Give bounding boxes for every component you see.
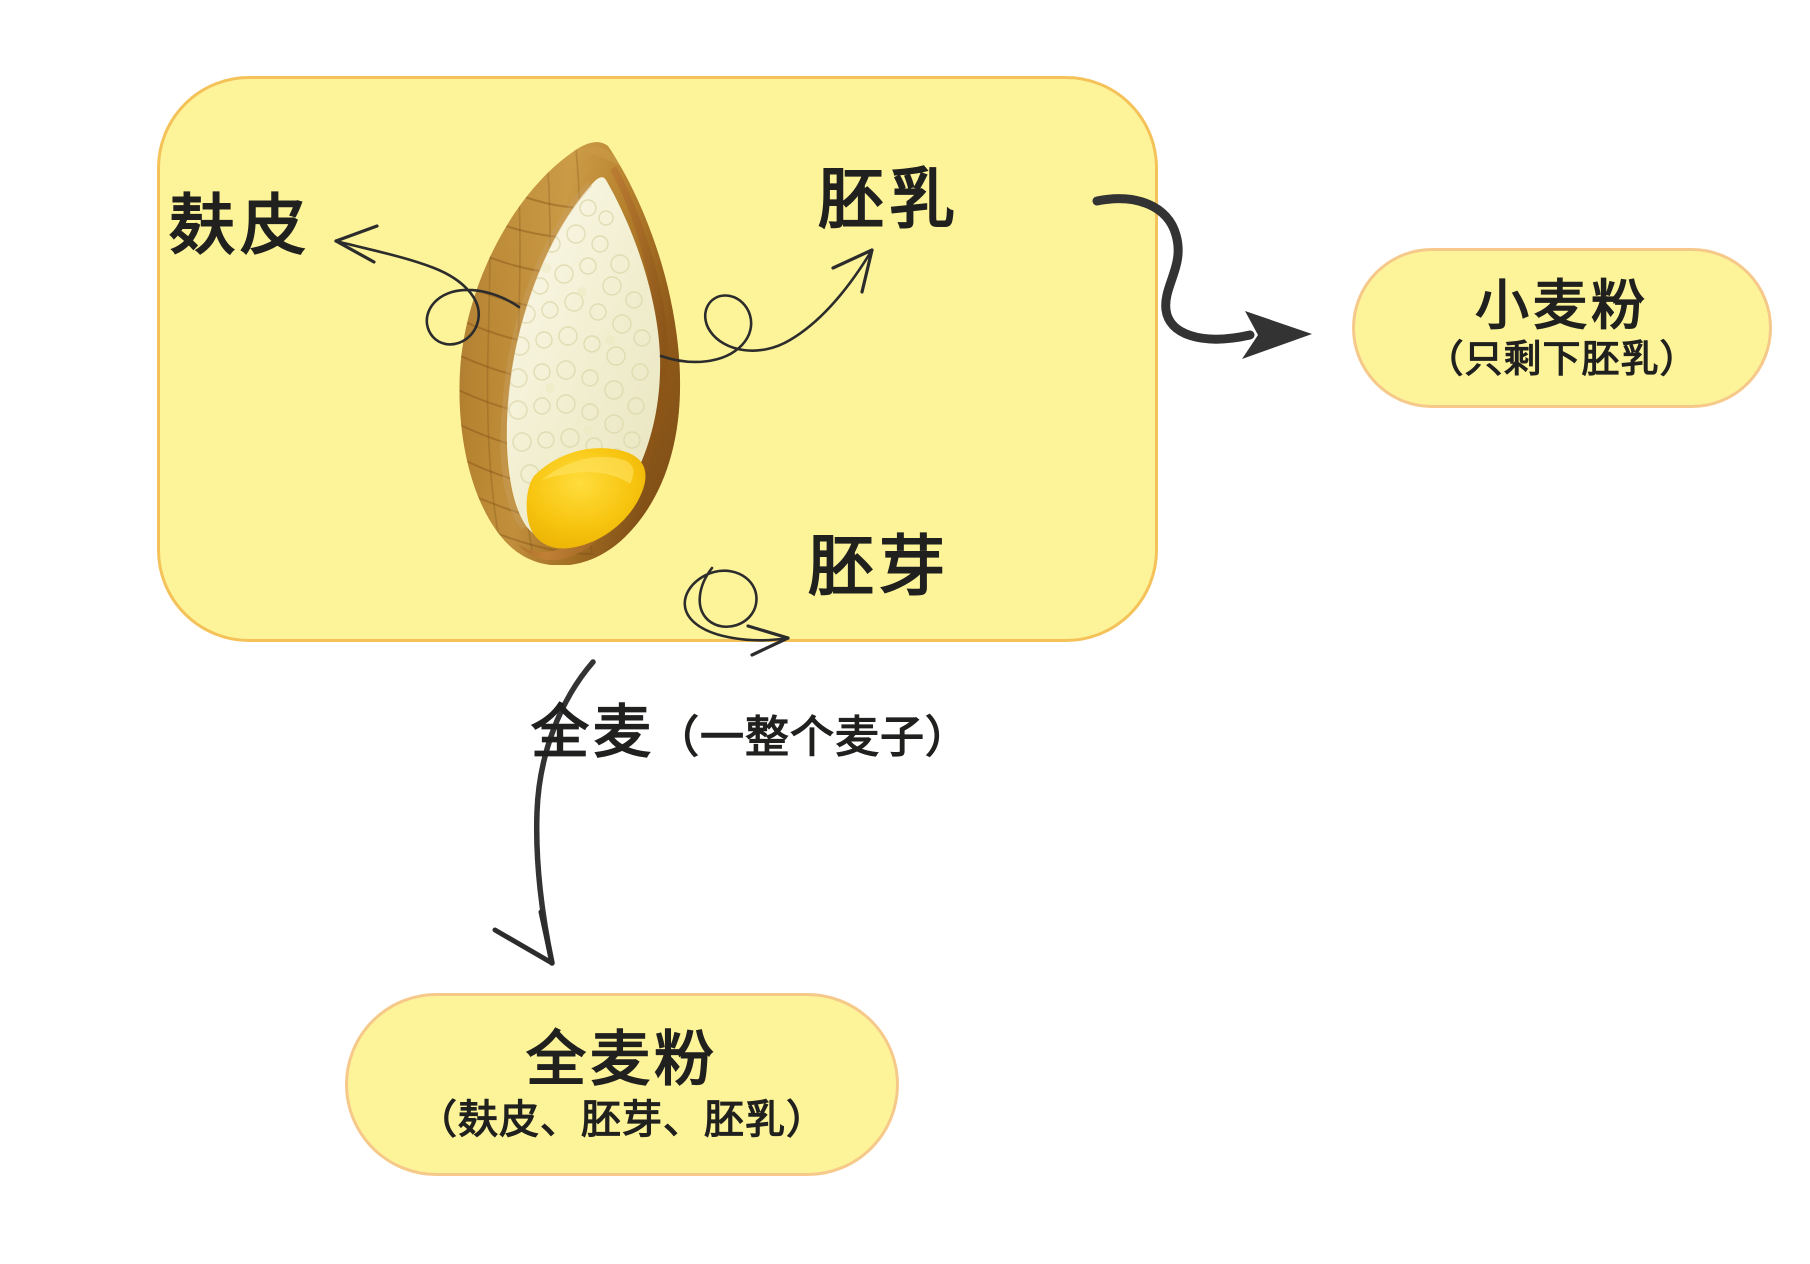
flow-label-main: 全麦 — [531, 698, 655, 766]
wholewheat-callout-box: 全麦粉 （麸皮、胚芽、胚乳） — [345, 993, 899, 1176]
flour-callout-subtitle: （只剩下胚乳） — [1425, 340, 1698, 378]
wholewheat-callout-title: 全麦粉 — [526, 1030, 718, 1090]
wheat-kernel-illustration — [430, 140, 730, 565]
flow-label-wholewheat: 全麦（一整个麦子） — [531, 703, 970, 761]
label-germ: 胚芽 — [808, 533, 950, 599]
diagram-canvas: .ink { fill: none; stroke: #2c2c2c; stro… — [0, 0, 1810, 1264]
flour-callout-box: 小麦粉 （只剩下胚乳） — [1352, 248, 1772, 408]
label-bran: 麸皮 — [169, 192, 311, 258]
label-endosperm: 胚乳 — [818, 166, 960, 232]
flow-label-paren: （一整个麦子） — [655, 712, 970, 763]
flour-callout-title: 小麦粉 — [1475, 278, 1649, 332]
wholewheat-callout-subtitle: （麸皮、胚芽、胚乳） — [417, 1100, 827, 1140]
